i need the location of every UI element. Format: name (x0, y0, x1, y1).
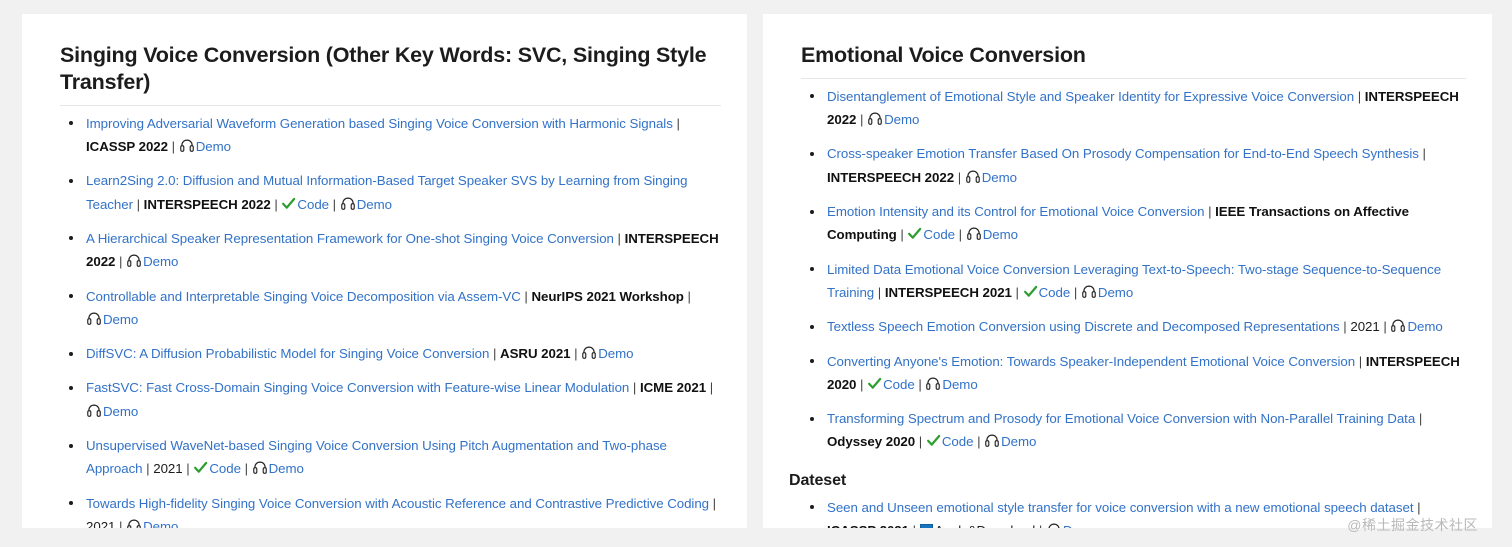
separator: | (521, 289, 532, 304)
separator: | (1354, 89, 1365, 104)
paper-title-link[interactable]: Transforming Spectrum and Prosody for Em… (827, 411, 1415, 426)
paper-resource-demo[interactable]: Demo (581, 346, 633, 361)
singing-voice-conversion-panel: Singing Voice Conversion (Other Key Word… (22, 14, 747, 528)
headphone-icon (581, 345, 597, 361)
paper-resource-demo[interactable]: Demo (1046, 523, 1098, 528)
paper-resource-demo[interactable]: Demo (966, 227, 1018, 242)
separator: | (1070, 285, 1081, 300)
check-icon (867, 376, 882, 391)
paper-list-item: Cross-speaker Emotion Transfer Based On … (809, 142, 1466, 189)
paper-resource-demo[interactable]: Demo (925, 377, 977, 392)
headphone-icon (1390, 318, 1406, 334)
resource-label[interactable]: Code (209, 461, 241, 476)
separator: | (909, 523, 920, 528)
resource-label[interactable]: Demo (1063, 523, 1098, 528)
headphone-icon (86, 311, 102, 327)
resource-label[interactable]: Demo (942, 377, 977, 392)
paper-title-link[interactable]: FastSVC: Fast Cross-Domain Singing Voice… (86, 380, 629, 395)
headphone-icon (126, 253, 142, 269)
watermark: @稀土掘金技术社区 (1347, 515, 1478, 535)
separator: | (629, 380, 640, 395)
dataset-heading: Dateset (789, 472, 1466, 490)
paper-venue: INTERSPEECH 2021 (885, 285, 1012, 300)
separator: | (706, 380, 713, 395)
paper-resource-demo[interactable]: Demo (86, 312, 138, 327)
separator: | (329, 197, 340, 212)
title-divider (60, 105, 721, 106)
check-icon (926, 433, 941, 448)
paper-list-item: Emotion Intensity and its Control for Em… (809, 200, 1466, 247)
headphone-icon (1046, 522, 1062, 528)
resource-label[interactable]: Demo (269, 461, 304, 476)
paper-resource-code[interactable]: Code (867, 377, 915, 392)
resource-label[interactable]: Demo (143, 519, 178, 528)
paper-resource-code[interactable]: Code (1023, 285, 1071, 300)
separator: | (1413, 500, 1420, 515)
paper-list-singing: Improving Adversarial Waveform Generatio… (40, 112, 721, 528)
check-icon (281, 196, 296, 211)
paper-list-item: Transforming Spectrum and Prosody for Em… (809, 407, 1466, 454)
separator: | (673, 116, 680, 131)
paper-resource-apply-download: Apply&Download (920, 523, 1036, 528)
separator: | (1355, 354, 1366, 369)
paper-venue: 2021 (86, 519, 115, 528)
headphone-icon (126, 518, 142, 528)
resource-label: Apply&Download (935, 523, 1036, 528)
resource-label[interactable]: Demo (1001, 434, 1036, 449)
paper-resource-demo[interactable]: Demo (340, 197, 392, 212)
check-icon (193, 460, 208, 475)
resource-label[interactable]: Demo (1407, 319, 1442, 334)
separator: | (709, 496, 716, 511)
separator: | (874, 285, 885, 300)
paper-list-item: Converting Anyone's Emotion: Towards Spe… (809, 350, 1466, 397)
separator: | (1415, 411, 1422, 426)
paper-list-item: Learn2Sing 2.0: Diffusion and Mutual Inf… (68, 169, 721, 216)
paper-list-item: Unsupervised WaveNet-based Singing Voice… (68, 434, 721, 481)
resource-label[interactable]: Code (297, 197, 329, 212)
resource-label[interactable]: Demo (103, 312, 138, 327)
separator: | (684, 289, 691, 304)
separator: | (897, 227, 908, 242)
paper-resource-demo[interactable]: Demo (126, 519, 178, 528)
check-icon (1023, 284, 1038, 299)
resource-label[interactable]: Demo (1098, 285, 1133, 300)
separator: | (954, 170, 965, 185)
paper-title-link[interactable]: Towards High-fidelity Singing Voice Conv… (86, 496, 709, 511)
separator: | (614, 231, 625, 246)
paper-venue: ASRU 2021 (500, 346, 571, 361)
paper-list-item: Improving Adversarial Waveform Generatio… (68, 112, 721, 159)
separator: | (856, 377, 867, 392)
headphone-icon (86, 403, 102, 419)
separator: | (1380, 319, 1391, 334)
paper-venue: Odyssey 2020 (827, 434, 915, 449)
paper-title-link[interactable]: Cross-speaker Emotion Transfer Based On … (827, 146, 1419, 161)
paper-resource-demo[interactable]: Demo (252, 461, 304, 476)
paper-resource-code[interactable]: Code (193, 461, 241, 476)
resource-label[interactable]: Demo (598, 346, 633, 361)
paper-list-item: Controllable and Interpretable Singing V… (68, 285, 721, 332)
separator: | (241, 461, 252, 476)
separator: | (915, 377, 926, 392)
paper-venue: 2021 (153, 461, 182, 476)
paper-title-link[interactable]: DiffSVC: A Diffusion Probabilistic Model… (86, 346, 489, 361)
headphone-icon (965, 169, 981, 185)
resource-label[interactable]: Demo (983, 227, 1018, 242)
paper-title-link[interactable]: Emotion Intensity and its Control for Em… (827, 204, 1204, 219)
separator: | (115, 254, 126, 269)
paper-title-link[interactable]: Converting Anyone's Emotion: Towards Spe… (827, 354, 1355, 369)
emotional-voice-conversion-panel: Emotional Voice Conversion Disentangleme… (763, 14, 1492, 528)
page-title: Singing Voice Conversion (Other Key Word… (60, 42, 721, 96)
separator: | (489, 346, 500, 361)
headphone-icon (252, 460, 268, 476)
paper-list-item: DiffSVC: A Diffusion Probabilistic Model… (68, 342, 721, 365)
headphone-icon (179, 138, 195, 154)
paper-resource-demo[interactable]: Demo (86, 404, 138, 419)
separator: | (1204, 204, 1215, 219)
paper-resource-demo[interactable]: Demo (179, 139, 231, 154)
paper-title-link[interactable]: Textless Speech Emotion Conversion using… (827, 319, 1340, 334)
paper-list-item: Textless Speech Emotion Conversion using… (809, 315, 1466, 338)
separator: | (973, 434, 984, 449)
paper-venue: NeurIPS 2021 Workshop (531, 289, 683, 304)
paper-venue: ICASSP 2022 (86, 139, 168, 154)
paper-venue: INTERSPEECH 2022 (144, 197, 271, 212)
resource-label[interactable]: Demo (357, 197, 392, 212)
paper-list-item: Disentanglement of Emotional Style and S… (809, 85, 1466, 132)
paper-venue: 2021 (1350, 319, 1379, 334)
resource-label[interactable]: Demo (196, 139, 231, 154)
download-icon (920, 524, 933, 528)
headphone-icon (984, 433, 1000, 449)
paper-list-item: FastSVC: Fast Cross-Domain Singing Voice… (68, 376, 721, 423)
resource-label[interactable]: Code (883, 377, 915, 392)
page-title-emotional: Emotional Voice Conversion (801, 42, 1466, 69)
resource-label[interactable]: Code (1039, 285, 1071, 300)
separator: | (856, 112, 867, 127)
title-divider-emotional (801, 78, 1466, 79)
separator: | (115, 519, 126, 528)
paper-list-emotional: Disentanglement of Emotional Style and S… (781, 85, 1466, 454)
paper-list-item: Limited Data Emotional Voice Conversion … (809, 258, 1466, 305)
paper-resource-demo[interactable]: Demo (1390, 319, 1442, 334)
resource-label[interactable]: Demo (982, 170, 1017, 185)
paper-resource-demo[interactable]: Demo (867, 112, 919, 127)
separator: | (571, 346, 582, 361)
paper-resource-demo[interactable]: Demo (126, 254, 178, 269)
resource-label[interactable]: Demo (884, 112, 919, 127)
resource-label[interactable]: Code (942, 434, 974, 449)
paper-resource-code[interactable]: Code (281, 197, 329, 212)
headphone-icon (925, 376, 941, 392)
paper-venue: ICME 2021 (640, 380, 706, 395)
separator: | (915, 434, 926, 449)
separator: | (1419, 146, 1426, 161)
headphone-icon (867, 111, 883, 127)
paper-venue: ICASSP 2021 (827, 523, 909, 528)
resource-label[interactable]: Code (923, 227, 955, 242)
resource-label[interactable]: Demo (103, 404, 138, 419)
paper-title-link[interactable]: Disentanglement of Emotional Style and S… (827, 89, 1354, 104)
paper-resource-code[interactable]: Code (926, 434, 974, 449)
paper-resource-code[interactable]: Code (907, 227, 955, 242)
paper-title-link[interactable]: Seen and Unseen emotional style transfer… (827, 500, 1413, 515)
separator: | (143, 461, 154, 476)
paper-title-link[interactable]: Controllable and Interpretable Singing V… (86, 289, 521, 304)
separator: | (1012, 285, 1023, 300)
separator: | (183, 461, 194, 476)
headphone-icon (1081, 284, 1097, 300)
separator: | (1035, 523, 1046, 528)
paper-resource-demo[interactable]: Demo (965, 170, 1017, 185)
resource-label[interactable]: Demo (143, 254, 178, 269)
paper-title-link[interactable]: Improving Adversarial Waveform Generatio… (86, 116, 673, 131)
paper-list-item: Towards High-fidelity Singing Voice Conv… (68, 492, 721, 528)
separator: | (955, 227, 966, 242)
headphone-icon (340, 196, 356, 212)
paper-title-link[interactable]: A Hierarchical Speaker Representation Fr… (86, 231, 614, 246)
page-root: Singing Voice Conversion (Other Key Word… (0, 0, 1512, 547)
separator: | (1340, 319, 1351, 334)
separator: | (271, 197, 282, 212)
check-icon (907, 226, 922, 241)
paper-venue: INTERSPEECH 2022 (827, 170, 954, 185)
paper-resource-demo[interactable]: Demo (984, 434, 1036, 449)
separator: | (168, 139, 179, 154)
paper-list-item: A Hierarchical Speaker Representation Fr… (68, 227, 721, 274)
paper-resource-demo[interactable]: Demo (1081, 285, 1133, 300)
headphone-icon (966, 226, 982, 242)
separator: | (133, 197, 144, 212)
